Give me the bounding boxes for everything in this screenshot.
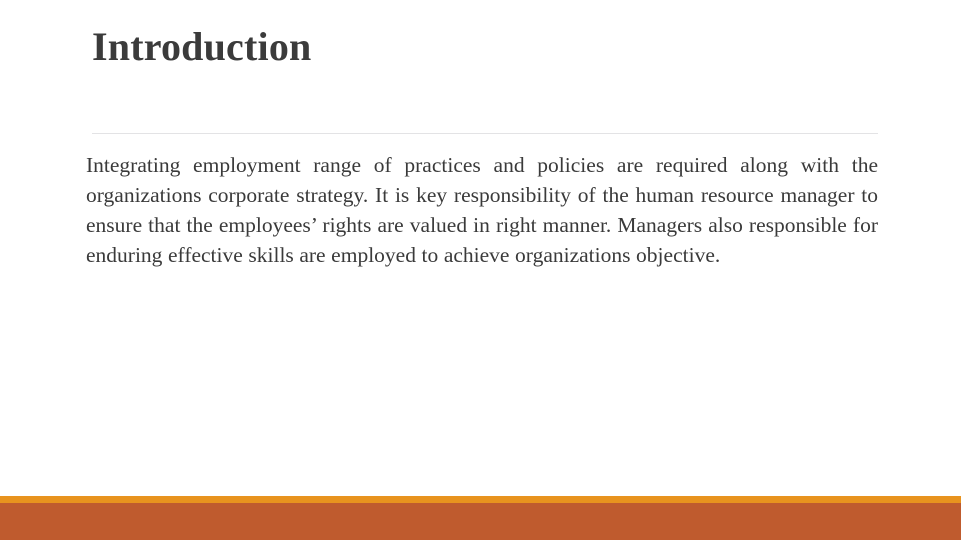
body-paragraph: Integrating employment range of practice… [86,150,878,270]
slide-canvas: Introduction Integrating employment rang… [0,0,961,540]
page-title: Introduction [92,22,882,72]
footer-decoration [0,496,961,540]
body-content-block: Integrating employment range of practice… [86,150,878,270]
footer-color-band [0,503,961,540]
title-divider [92,133,878,134]
footer-accent-stripe [0,496,961,503]
